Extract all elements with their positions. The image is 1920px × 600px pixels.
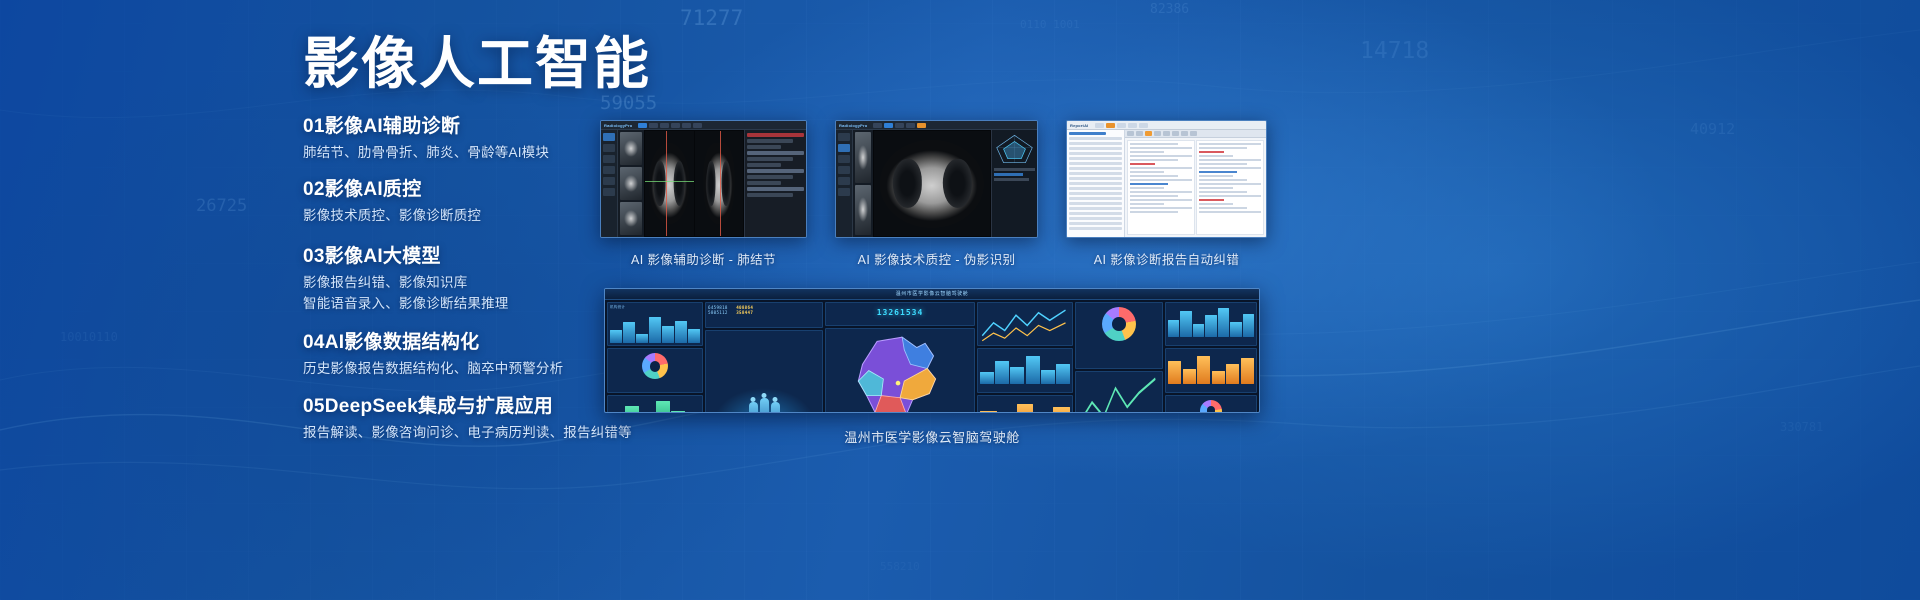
kpi-row-2: 5805112 358447 bbox=[708, 310, 820, 315]
dashboard-column-1: 机构统计 bbox=[607, 302, 703, 413]
tab-strip bbox=[638, 123, 702, 128]
app-window-frame: RadiologyPro bbox=[835, 120, 1038, 238]
dashboard-window: 温州市医学影像云智脑驾驶舱 机构统计 6459818 bbox=[604, 288, 1260, 413]
app-body bbox=[1067, 130, 1266, 237]
left-toolbar bbox=[836, 130, 853, 237]
body-figure-center bbox=[760, 398, 769, 413]
findings-panel bbox=[744, 130, 806, 237]
dashboard-column-4 bbox=[977, 302, 1073, 413]
app-logo: RadiologyPro bbox=[839, 123, 867, 128]
dashboard-column-6 bbox=[1165, 302, 1257, 413]
hologram-card bbox=[705, 330, 823, 413]
line-chart bbox=[980, 305, 1070, 343]
left-content-column: 影像人工智能 01影像AI辅助诊断 肺结节、肋骨骨折、肺炎、骨龄等AI模块 02… bbox=[0, 0, 660, 600]
body-figure-left bbox=[749, 402, 758, 413]
dashboard-screenshot[interactable]: 温州市医学影像云智脑驾驶舱 机构统计 6459818 bbox=[604, 288, 1260, 446]
screenshot-caption: AI 影像技术质控 - 伪影识别 bbox=[835, 249, 1038, 268]
dashboard-grid: 机构统计 6459818 408864 5805112 35 bbox=[605, 300, 1259, 413]
donut-chart bbox=[1200, 400, 1222, 413]
report-columns bbox=[1125, 138, 1266, 237]
ct-image-axial bbox=[645, 131, 694, 236]
bar-card-2 bbox=[977, 348, 1073, 392]
bar-card-5 bbox=[1165, 348, 1257, 392]
pie-chart bbox=[1102, 307, 1136, 341]
dashboard-column-2: 6459818 408864 5805112 358447 bbox=[705, 302, 823, 413]
app-logo: RadiologyPro bbox=[604, 123, 632, 128]
donut-card-2 bbox=[1165, 395, 1257, 413]
region-map bbox=[826, 329, 974, 413]
left-toolbar bbox=[601, 130, 618, 237]
bar-card-3 bbox=[977, 395, 1073, 413]
series-thumbnails bbox=[853, 130, 873, 237]
tab-strip bbox=[1095, 123, 1148, 128]
ct-image-chest bbox=[874, 131, 990, 236]
screenshot-artifact-qc[interactable]: RadiologyPro bbox=[835, 120, 1038, 268]
total-kpi-card: 13261534 bbox=[825, 302, 975, 326]
donut-card bbox=[607, 348, 703, 392]
tab-strip bbox=[873, 123, 926, 128]
app-logo: ReportAI bbox=[1070, 123, 1089, 128]
ct-viewer bbox=[873, 130, 991, 237]
human-body-hologram bbox=[706, 331, 822, 413]
series-thumbnails bbox=[618, 130, 644, 237]
app-body bbox=[601, 130, 806, 237]
screenshot-caption: AI 影像诊断报告自动纠错 bbox=[1066, 249, 1267, 268]
screenshot-caption: AI 影像辅助诊断 - 肺结节 bbox=[600, 249, 807, 268]
report-text-corrected bbox=[1196, 140, 1264, 235]
report-text-original bbox=[1127, 140, 1195, 235]
ct-viewer bbox=[644, 130, 744, 237]
line-card-2 bbox=[1075, 371, 1163, 413]
bar-card bbox=[607, 395, 703, 413]
card-title: 机构统计 bbox=[610, 305, 700, 310]
app-body bbox=[836, 130, 1037, 237]
editor-toolbar bbox=[1125, 130, 1266, 138]
app-window-frame: RadiologyPro bbox=[600, 120, 807, 238]
dashboard-header-title: 温州市医学影像云智脑驾驶舱 bbox=[605, 289, 1259, 300]
app-titlebar: RadiologyPro bbox=[601, 121, 806, 130]
worklist-panel bbox=[1067, 130, 1125, 237]
screenshot-lung-nodule[interactable]: RadiologyPro bbox=[600, 120, 807, 268]
qc-radar-panel bbox=[991, 130, 1037, 237]
dashboard-column-5 bbox=[1075, 302, 1163, 413]
pie-card bbox=[1075, 302, 1163, 369]
screenshot-report-correction[interactable]: ReportAI bbox=[1066, 120, 1267, 268]
dashboard-caption: 温州市医学影像云智脑驾驶舱 bbox=[604, 427, 1260, 446]
kpi-numbers-card: 6459818 408864 5805112 358447 bbox=[705, 302, 823, 328]
dashboard-column-3: 13261534 bbox=[825, 302, 975, 413]
app-titlebar: ReportAI bbox=[1067, 121, 1266, 130]
ct-image-sagittal bbox=[695, 131, 744, 236]
body-figure-right bbox=[771, 402, 780, 413]
app-titlebar: RadiologyPro bbox=[836, 121, 1037, 130]
app-window-frame: ReportAI bbox=[1066, 120, 1267, 238]
map-card bbox=[825, 328, 975, 413]
line-card-1 bbox=[977, 302, 1073, 346]
kpi-card: 机构统计 bbox=[607, 302, 703, 346]
kpi-big-number: 13261534 bbox=[828, 308, 972, 317]
line-chart bbox=[1078, 374, 1160, 413]
screenshot-row: RadiologyPro bbox=[600, 120, 1267, 268]
report-editor bbox=[1125, 130, 1266, 237]
donut-chart bbox=[642, 353, 668, 379]
radar-chart-icon bbox=[994, 133, 1035, 165]
page-title: 影像人工智能 bbox=[303, 36, 651, 92]
bar-card-4 bbox=[1165, 302, 1257, 346]
